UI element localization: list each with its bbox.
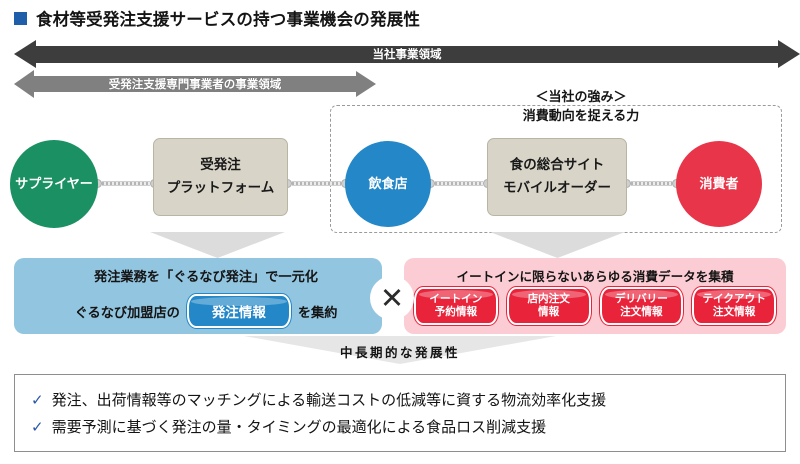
mid-long-term-label: 中長期的な発展性 <box>244 342 556 361</box>
panel-blue-heading: 発注業務を「ぐるなび発注」で一元化 <box>14 266 382 285</box>
arrow-head-left-icon <box>14 70 34 98</box>
page-title: 食材等受発注支援サービスの持つ事業機会の発展性 <box>14 6 420 30</box>
panel-blue-suffix: を集約 <box>298 302 338 321</box>
data-card-line2: 注文情報 <box>620 306 662 318</box>
flow-node-foodsite-line2: モバイルオーダー <box>503 177 611 200</box>
data-card-line1: 店内注文 <box>527 293 569 305</box>
data-card-line1: テイクアウト <box>702 293 765 305</box>
diagram-canvas: 食材等受発注支援サービスの持つ事業機会の発展性 当社事業領域 受発注支援専門事業… <box>0 0 800 464</box>
panel-blue-prefix: ぐるなび加盟店の <box>75 302 180 321</box>
band-partner-scope: 受発注支援専門事業者の事業領域 <box>14 70 376 98</box>
connector-supplier-platform <box>93 179 159 188</box>
flow-node-restaurant: 飲食店 <box>345 141 431 227</box>
panel-pink-heading: イートインに限らないあらゆる消費データを集積 <box>404 266 786 285</box>
bullet-item-text: 需要予測に基づく発注の量・タイミングの最適化による食品ロス削減支援 <box>52 416 547 437</box>
connector-restaurant-foodsite <box>426 179 492 188</box>
data-card-line2: 注文情報 <box>713 306 755 318</box>
chevron-down-left-icon <box>150 232 285 258</box>
panel-order-consolidation: 発注業務を「ぐるなび発注」で一元化 ぐるなび加盟店の 発注情報 を集約 <box>14 258 382 334</box>
arrow-head-right-icon <box>778 40 800 68</box>
bullet-item-text: 発注、出荷情報等のマッチングによる輸送コストの低減等に資する物流効率化支援 <box>52 389 607 410</box>
flow-node-foodsite: 食の総合サイト モバイルオーダー <box>487 138 627 216</box>
flow-node-consumer: 消費者 <box>676 141 762 227</box>
cylinder-order-info-label: 発注情報 <box>212 301 266 321</box>
check-icon: ✓ <box>31 418 44 436</box>
flow-node-platform-line1: 受発注 <box>200 154 241 177</box>
connector-wire <box>435 181 483 186</box>
multiply-symbol-icon: ✕ <box>370 276 414 320</box>
bullet-item: ✓ 需要予測に基づく発注の量・タイミングの最適化による食品ロス削減支援 <box>31 416 769 437</box>
connector-platform-restaurant <box>283 179 350 188</box>
band-partner-shaft: 受発注支援専門事業者の事業領域 <box>34 76 356 92</box>
band-company-label: 当社事業領域 <box>373 46 442 62</box>
chevron-down-right-icon <box>490 232 625 258</box>
connector-wire <box>102 181 150 186</box>
flow-node-foodsite-line1: 食の総合サイト <box>510 154 605 177</box>
connector-foodsite-consumer <box>622 179 681 188</box>
title-bullet-icon <box>14 12 27 25</box>
band-company-scope: 当社事業領域 <box>14 40 800 68</box>
data-card-line1: イートイン <box>429 293 482 305</box>
flow-node-supplier: サプライヤー <box>10 140 98 228</box>
connector-wire <box>292 181 341 186</box>
database-cylinder-order-info-icon: 発注情報 <box>187 294 291 328</box>
check-icon: ✓ <box>31 391 44 409</box>
data-card: デリバリー 注文情報 <box>600 287 684 325</box>
data-card-line1: デリバリー <box>615 293 668 305</box>
panel-blue-subline: ぐるなび加盟店の 発注情報 を集約 <box>14 294 382 328</box>
panel-consumption-data: イートインに限らないあらゆる消費データを集積 イートイン 予約情報 店内注文 情… <box>404 258 786 334</box>
data-card-line2: 予約情報 <box>435 306 477 318</box>
band-company-shaft: 当社事業領域 <box>36 46 778 63</box>
arrow-head-right-icon <box>356 71 376 97</box>
bullet-item: ✓ 発注、出荷情報等のマッチングによる輸送コストの低減等に資する物流効率化支援 <box>31 389 769 410</box>
flow-node-supplier-label: サプライヤー <box>15 176 93 192</box>
data-card: テイクアウト 注文情報 <box>692 287 776 325</box>
panel-pink-card-list: イートイン 予約情報 店内注文 情報 デリバリー 注文情報 テイクアウト 注文情… <box>414 287 776 325</box>
data-card: 店内注文 情報 <box>507 287 591 325</box>
flow-node-restaurant-label: 飲食店 <box>368 176 407 192</box>
outcome-bullet-box: ✓ 発注、出荷情報等のマッチングによる輸送コストの低減等に資する物流効率化支援 … <box>14 374 786 452</box>
band-partner-label: 受発注支援専門事業者の事業領域 <box>109 76 282 92</box>
connector-wire <box>631 181 672 186</box>
arrow-head-left-icon <box>14 40 36 68</box>
flow-node-platform-line2: プラットフォーム <box>167 177 275 200</box>
flow-node-platform: 受発注 プラットフォーム <box>153 138 288 216</box>
page-title-text: 食材等受発注支援サービスの持つ事業機会の発展性 <box>36 6 420 30</box>
flow-node-consumer-label: 消費者 <box>699 176 738 192</box>
data-card: イートイン 予約情報 <box>414 287 498 325</box>
data-card-line2: 情報 <box>538 306 559 318</box>
